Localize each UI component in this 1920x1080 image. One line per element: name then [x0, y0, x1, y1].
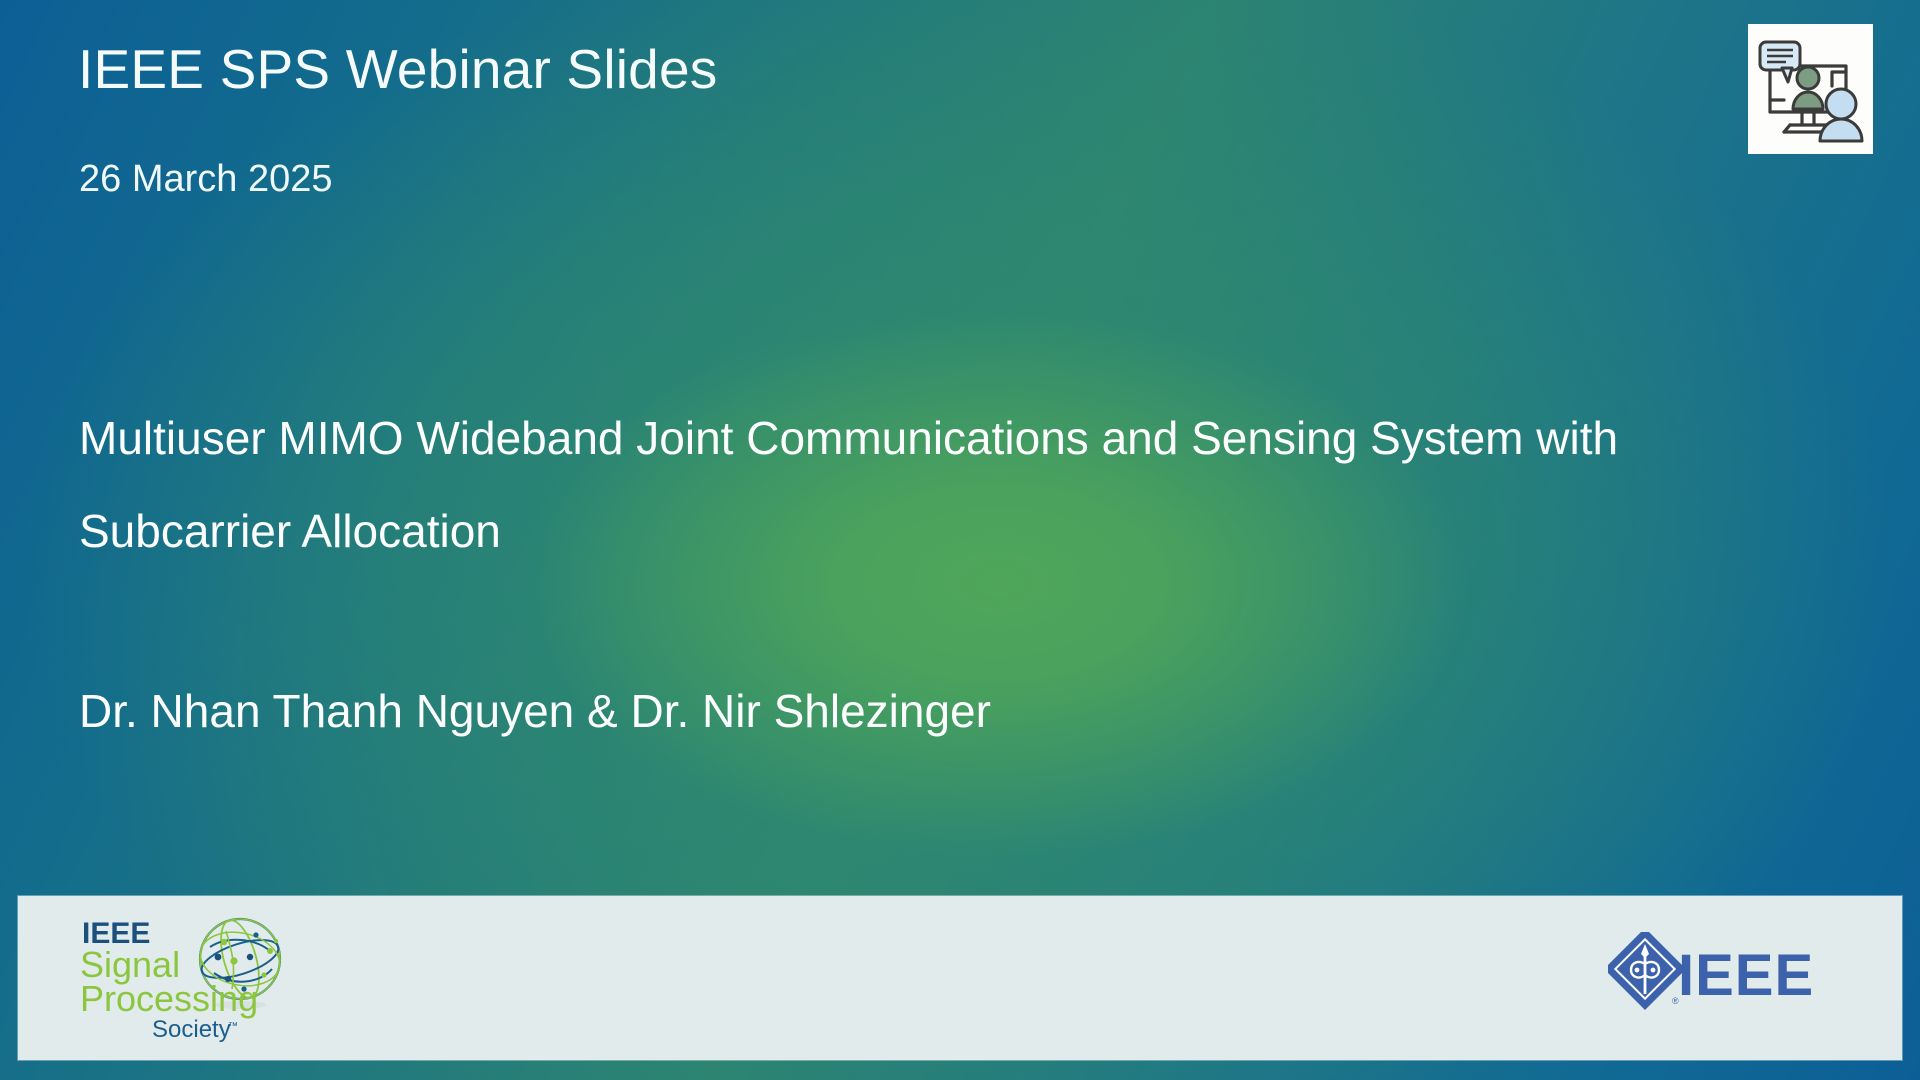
page-title: IEEE SPS Webinar Slides — [78, 37, 717, 101]
webinar-icon — [1748, 24, 1873, 154]
sps-logo-trademark: ™ — [228, 1021, 238, 1032]
presentation-authors: Dr. Nhan Thanh Nguyen & Dr. Nir Shlezing… — [79, 684, 991, 738]
ieee-logo: IEEE ® — [1608, 932, 1846, 1022]
presentation-date: 26 March 2025 — [79, 158, 333, 201]
footer-bar: IEEE Signal Processing Society ™ — [18, 896, 1902, 1060]
sps-logo-line-society: Society — [152, 1016, 231, 1043]
ieee-sps-logo: IEEE Signal Processing Society ™ — [80, 911, 290, 1043]
ieee-wordmark: IEEE — [1678, 943, 1814, 1008]
presentation-title: Multiuser MIMO Wideband Joint Communicat… — [79, 392, 1639, 578]
slide-canvas: IEEE SPS Webinar Slides 26 March 2025 Mu… — [0, 0, 1920, 1080]
sps-logo-line-processing: Processing — [80, 978, 258, 1019]
ieee-registered-mark: ® — [1672, 996, 1679, 1006]
